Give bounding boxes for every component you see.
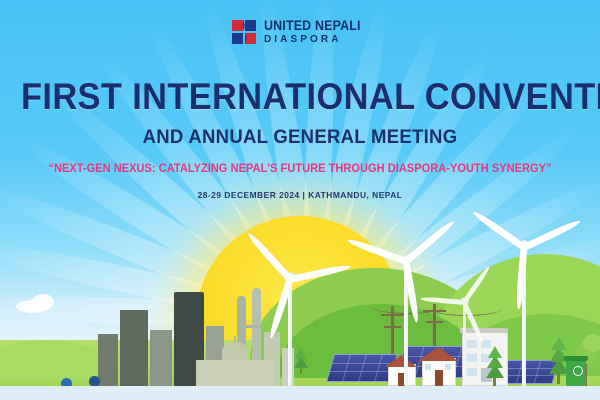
twin-tower-bridge — [246, 325, 261, 328]
building — [150, 330, 172, 388]
organization-logo: UNITED NEPALI DIASPORA — [0, 12, 600, 52]
building — [120, 310, 148, 388]
event-date-location: 28-29 DECEMBER 2024 | KATHMANDU, NEPAL — [0, 190, 600, 200]
convention-theme: “NEXT-GEN NEXUS: CATALYZING NEPAL'S FUTU… — [15, 162, 585, 175]
wind-turbine — [520, 236, 528, 386]
page-title-line2: AND ANNUAL GENERAL MEETING — [15, 126, 585, 149]
logo-subtitle: DIASPORA — [264, 35, 369, 45]
building — [98, 334, 118, 388]
wind-turbine — [462, 294, 468, 386]
logo-text: UNITED NEPALI DIASPORA — [264, 19, 369, 45]
wind-turbine — [286, 268, 294, 386]
wind-turbine — [402, 250, 410, 386]
palace-spire — [234, 336, 236, 343]
event-poster: UNITED NEPALI DIASPORA FIRST INTERNATION… — [0, 0, 600, 400]
logo-title: UNITED NEPALI — [264, 19, 361, 33]
cloud-icon — [32, 294, 54, 310]
logo-mark-icon — [231, 18, 257, 46]
page-title-line1: FIRST INTERNATIONAL CONVENTION — [21, 76, 579, 118]
palace-base — [196, 360, 274, 388]
bottom-strip — [0, 386, 600, 400]
palace-dome — [222, 342, 248, 360]
